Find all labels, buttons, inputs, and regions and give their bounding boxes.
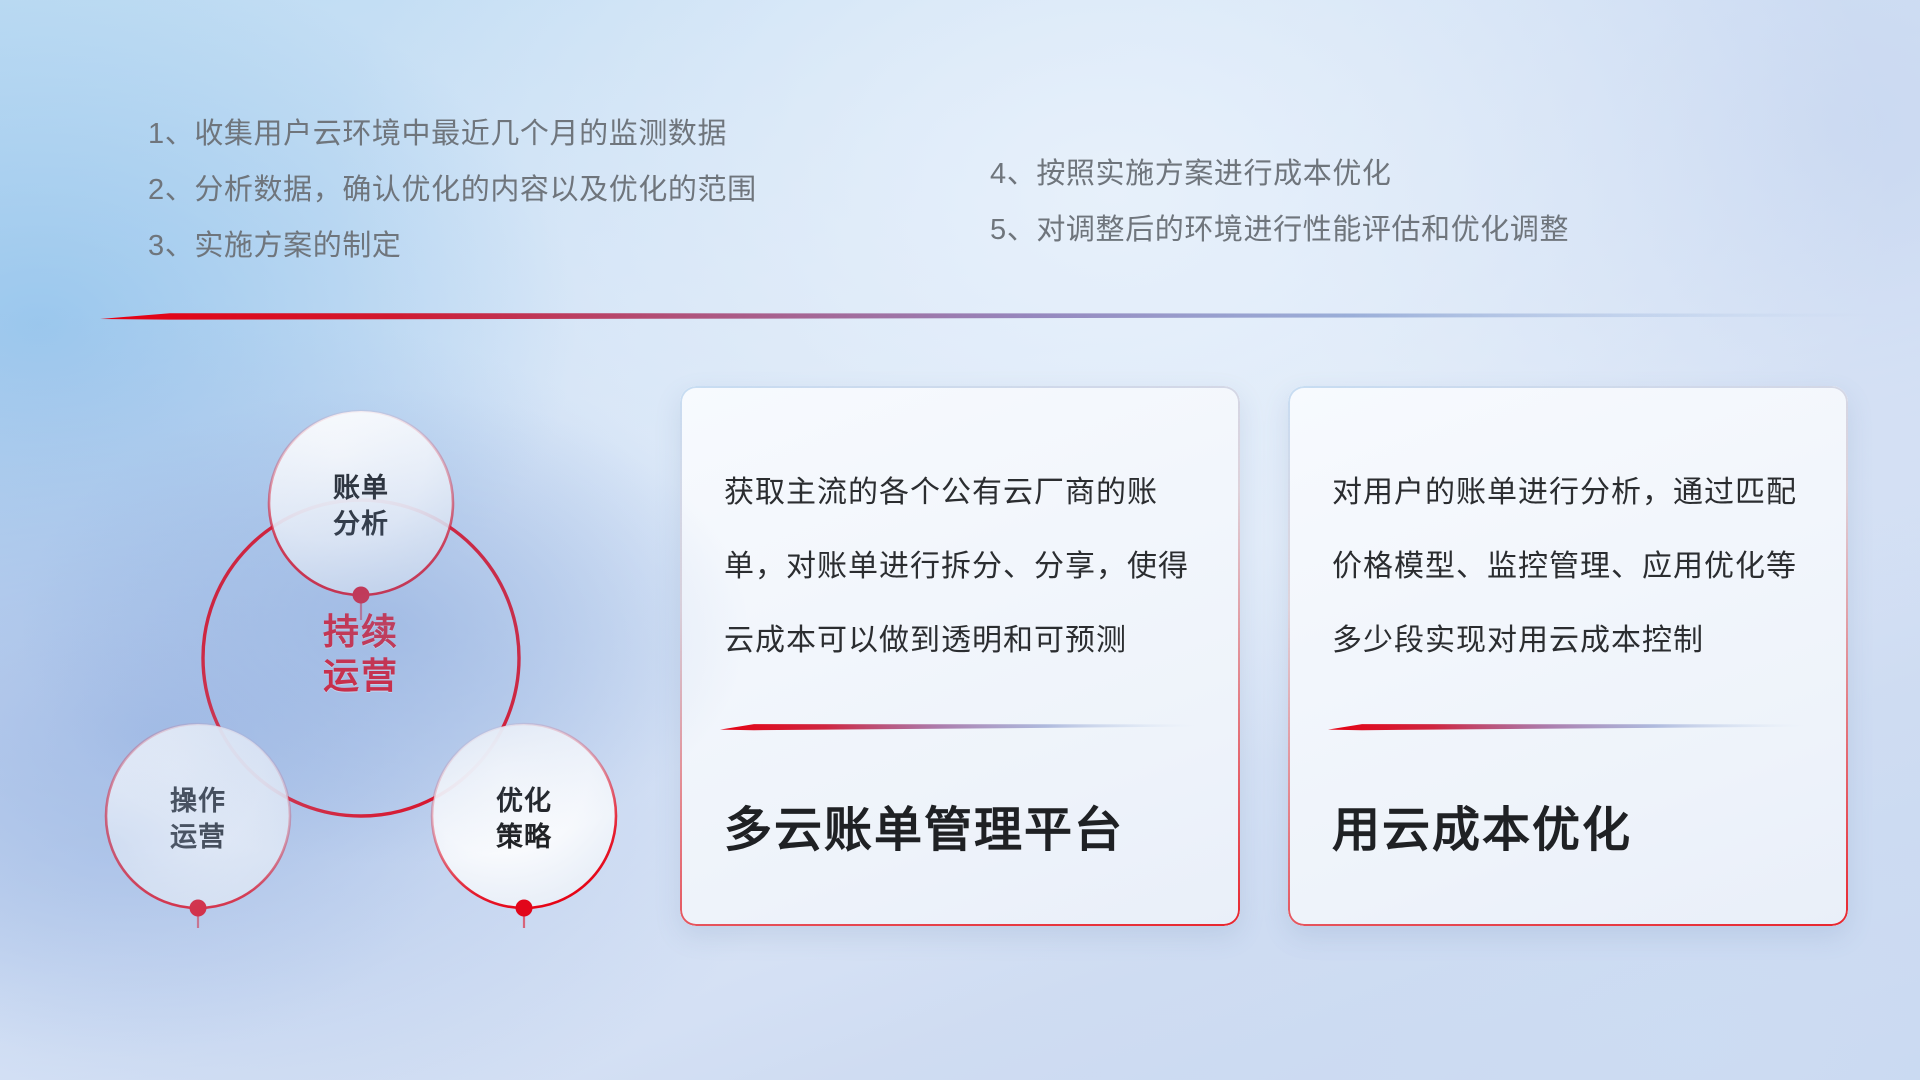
step-item: 5、对调整后的环境进行性能评估和优化调整 [990,202,1569,258]
card-body-text: 获取主流的各个公有云厂商的账单，对账单进行拆分、分享，使得云成本可以做到透明和可… [724,456,1206,678]
card-cloud-cost-optimization[interactable]: 对用户的账单进行分析，通过匹配价格模型、监控管理、应用优化等多少段实现对用云成本… [1288,386,1848,926]
steps-left-column: 1、收集用户云环境中最近几个月的监测数据 2、分析数据，确认优化的内容以及优化的… [148,106,757,274]
bubble-billing-analysis [269,411,453,620]
card-accent-rule [720,722,1200,731]
card-title: 多云账单管理平台 [724,790,1210,860]
connector-dot [190,900,207,917]
bubble-operation-running [106,724,290,928]
step-item: 2、分析数据，确认优化的内容以及优化的范围 [148,162,757,218]
step-item: 1、收集用户云环境中最近几个月的监测数据 [148,106,757,162]
section-divider [100,310,1890,322]
bubble-optimize-strategy [432,724,616,928]
connector-dot [353,587,370,604]
step-item: 3、实施方案的制定 [148,218,757,274]
connector-dot [516,900,533,917]
steps-right-column: 4、按照实施方案进行成本优化 5、对调整后的环境进行性能评估和优化调整 [990,146,1569,258]
continuous-operation-diagram: 账单 分析 操作 运营 优化 策略 持续 运营 [96,348,636,928]
card-multi-cloud-billing-platform[interactable]: 获取主流的各个公有云厂商的账单，对账单进行拆分、分享，使得云成本可以做到透明和可… [680,386,1240,926]
card-title: 用云成本优化 [1332,790,1818,860]
card-body-text: 对用户的账单进行分析，通过匹配价格模型、监控管理、应用优化等多少段实现对用云成本… [1332,456,1814,678]
slide-canvas: 1、收集用户云环境中最近几个月的监测数据 2、分析数据，确认优化的内容以及优化的… [0,0,1920,1080]
diagram-svg [96,348,636,928]
step-item: 4、按照实施方案进行成本优化 [990,146,1569,202]
card-accent-rule [1328,722,1808,731]
